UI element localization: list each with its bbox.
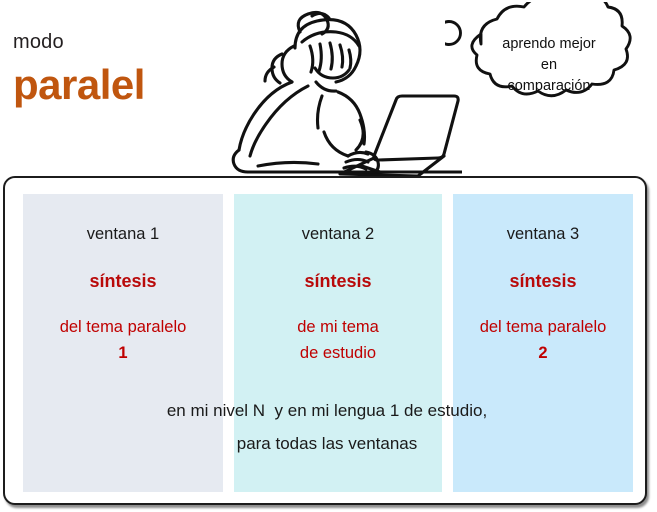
window-2-body: de mi tema de estudio (234, 314, 442, 366)
person-studying-at-laptop-icon (212, 0, 462, 180)
window-columns: ventana 1 síntesis del tema paralelo 1 v… (5, 178, 649, 507)
window-1-body-line-2: 1 (23, 340, 223, 366)
window-column-3: ventana 3 síntesis del tema paralelo 2 (453, 194, 633, 492)
thought-line-3: comparación (455, 76, 643, 97)
thought-line-2: en (455, 55, 643, 76)
window-3-body-line-1: del tema paralelo (453, 314, 633, 340)
window-1-title: ventana 1 (23, 226, 223, 243)
mode-label: modo (13, 32, 64, 52)
diagram-frame: ventana 1 síntesis del tema paralelo 1 v… (3, 176, 647, 505)
window-1-heading: síntesis (23, 272, 223, 290)
window-2-heading: síntesis (234, 272, 442, 290)
thought-bubble-text: aprendo mejor en comparación (455, 34, 643, 97)
window-column-2: ventana 2 síntesis de mi tema de estudio (234, 194, 442, 492)
thought-line-1: aprendo mejor (455, 34, 643, 55)
window-column-1: ventana 1 síntesis del tema paralelo 1 (23, 194, 223, 492)
window-3-heading: síntesis (453, 272, 633, 290)
window-3-body-line-2: 2 (453, 340, 633, 366)
window-3-title: ventana 3 (453, 226, 633, 243)
window-3-body: del tema paralelo 2 (453, 314, 633, 366)
window-1-body: del tema paralelo 1 (23, 314, 223, 366)
window-2-title: ventana 2 (234, 226, 442, 243)
window-1-body-line-1: del tema paralelo (23, 314, 223, 340)
header: modo paralel (0, 0, 657, 178)
mode-name-title: paralel (13, 64, 145, 106)
window-2-body-line-1: de mi tema (234, 314, 442, 340)
window-2-body-line-2: de estudio (234, 340, 442, 366)
